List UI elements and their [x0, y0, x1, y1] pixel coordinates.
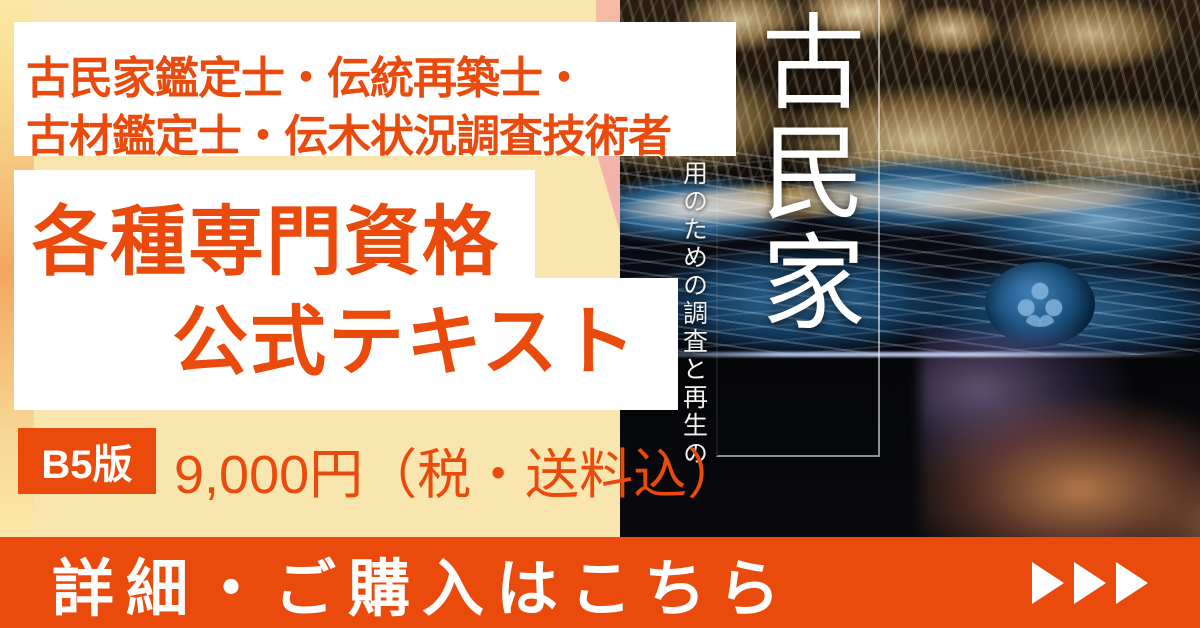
triangle-right-icon	[1074, 562, 1106, 604]
promo-banner: 古民家 古民家活用のための調査と再生の 伝統構法、 古民家鑑定士・伝統再築士・ …	[0, 0, 1200, 628]
triangle-right-icon	[1116, 562, 1148, 604]
triangle-right-icon	[1032, 562, 1064, 604]
cover-light-glow	[920, 330, 1200, 540]
cta-arrows	[1032, 562, 1148, 604]
qualifications-line-2: 古材鑑定士・伝木状況調査技術者	[26, 100, 671, 164]
product-title-line-2: 公式テキスト	[172, 280, 638, 390]
cover-title-text: 古民家	[740, 8, 860, 338]
price-text: 9,000円（税・送料込）	[174, 430, 741, 509]
format-badge: B5版	[18, 428, 156, 494]
qualifications-line-1: 古民家鑑定士・伝統再築士・	[26, 42, 585, 106]
qualifications-card: 古民家鑑定士・伝統再築士・ 古材鑑定士・伝木状況調査技術者	[14, 22, 736, 156]
cta-bar[interactable]: 詳細・ご購入はこちら	[0, 537, 1200, 628]
cta-label: 詳細・ご購入はこちら	[52, 538, 792, 628]
product-title-line-1: 各種専門資格	[32, 180, 500, 290]
